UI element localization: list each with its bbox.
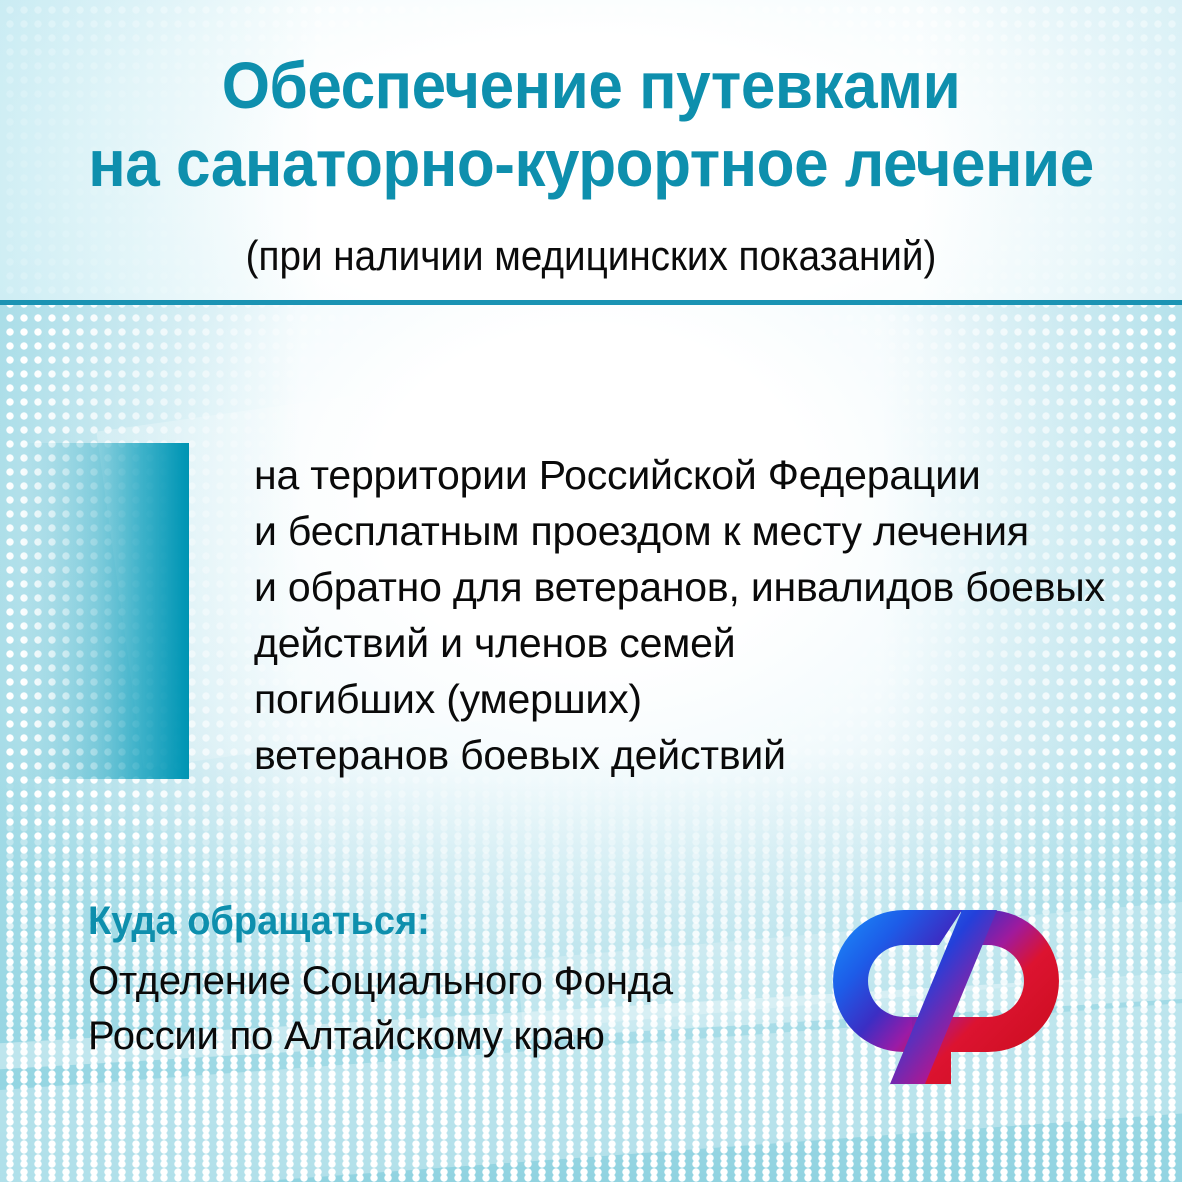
- contact-block: Куда обращаться: Отделение Социального Ф…: [88, 896, 788, 1064]
- accent-bar: [22, 443, 189, 779]
- header-panel: Обеспечение путевками на санаторно-курор…: [0, 0, 1182, 303]
- poster-root: Обеспечение путевками на санаторно-курор…: [0, 0, 1182, 1182]
- body-line: действий и членов семей: [254, 615, 1154, 671]
- body-line: и бесплатным проездом к месту лечения: [254, 503, 1154, 559]
- page-title-line-1: Обеспечение путевками: [35, 46, 1146, 124]
- sfr-logo-icon: [812, 888, 1082, 1088]
- contact-line: России по Алтайскому краю: [88, 1009, 788, 1064]
- body-paragraph: на территории Российской Федерации и бес…: [254, 447, 1154, 783]
- body-line: на территории Российской Федерации: [254, 447, 1154, 503]
- page-title: Обеспечение путевками на санаторно-курор…: [0, 46, 1182, 202]
- body-line: погибших (умерших): [254, 671, 1154, 727]
- page-subtitle: (при наличии медицинских показаний): [47, 230, 1134, 282]
- contact-organization: Отделение Социального Фонда России по Ал…: [88, 954, 788, 1064]
- page-title-line-2: на санаторно-курортное лечение: [35, 124, 1146, 202]
- body-line: и обратно для ветеранов, инвалидов боевы…: [254, 559, 1154, 615]
- body-line: ветеранов боевых действий: [254, 727, 1154, 783]
- header-divider-rule: [0, 300, 1182, 305]
- contact-line: Отделение Социального Фонда: [88, 954, 788, 1009]
- contact-heading: Куда обращаться:: [88, 896, 753, 946]
